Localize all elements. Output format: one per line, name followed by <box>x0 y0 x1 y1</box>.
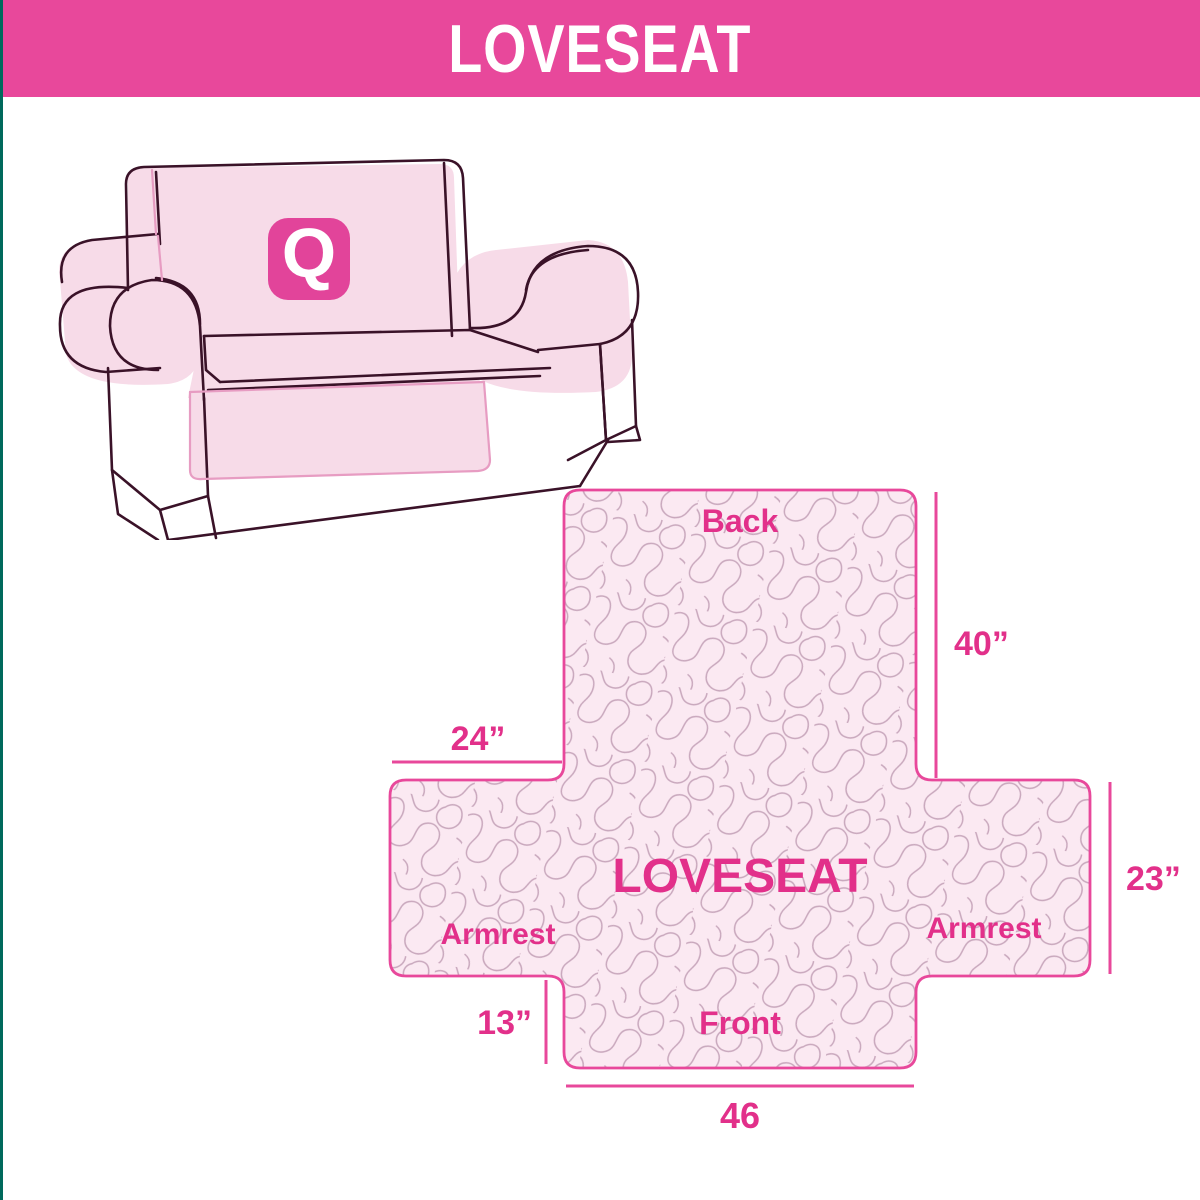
slipcover-fill-group <box>59 164 632 480</box>
dimension-front-width: 46 <box>566 1086 914 1136</box>
left-armrest-cover-fill <box>59 232 200 385</box>
cover-pattern-outline <box>390 490 1090 1068</box>
label-armrest-right: Armrest <box>926 912 1041 945</box>
brand-logo-badge: Q <box>268 214 350 300</box>
left-edge-accent-strip <box>0 0 3 1200</box>
dimension-armrest-height: 23” <box>1110 782 1180 974</box>
dimension-armrest-width: 24” <box>392 720 562 762</box>
dimension-value-armrest-height: 23” <box>1126 860 1180 898</box>
dimension-value-front-height: 13” <box>477 1004 532 1042</box>
page-title: LOVESEAT <box>449 15 752 83</box>
label-back: Back <box>702 503 779 539</box>
dimension-front-height: 13” <box>477 980 546 1064</box>
page-header-banner: LOVESEAT <box>0 0 1200 97</box>
dimension-value-front-width: 46 <box>720 1095 760 1136</box>
dimension-back-height: 40” <box>936 492 1009 778</box>
dimension-value-back-height: 40” <box>954 625 1009 663</box>
dimension-value-armrest-width: 24” <box>451 720 506 758</box>
label-front: Front <box>699 1005 781 1041</box>
label-center-loveseat: LOVESEAT <box>612 850 867 903</box>
cover-pattern-diagram-svg: Back LOVESEAT Armrest Armrest Front 40” … <box>380 460 1180 1140</box>
logo-letter: Q <box>282 214 336 292</box>
cover-pattern-diagram: Back LOVESEAT Armrest Armrest Front 40” … <box>380 460 1180 1140</box>
label-armrest-left: Armrest <box>440 918 555 951</box>
